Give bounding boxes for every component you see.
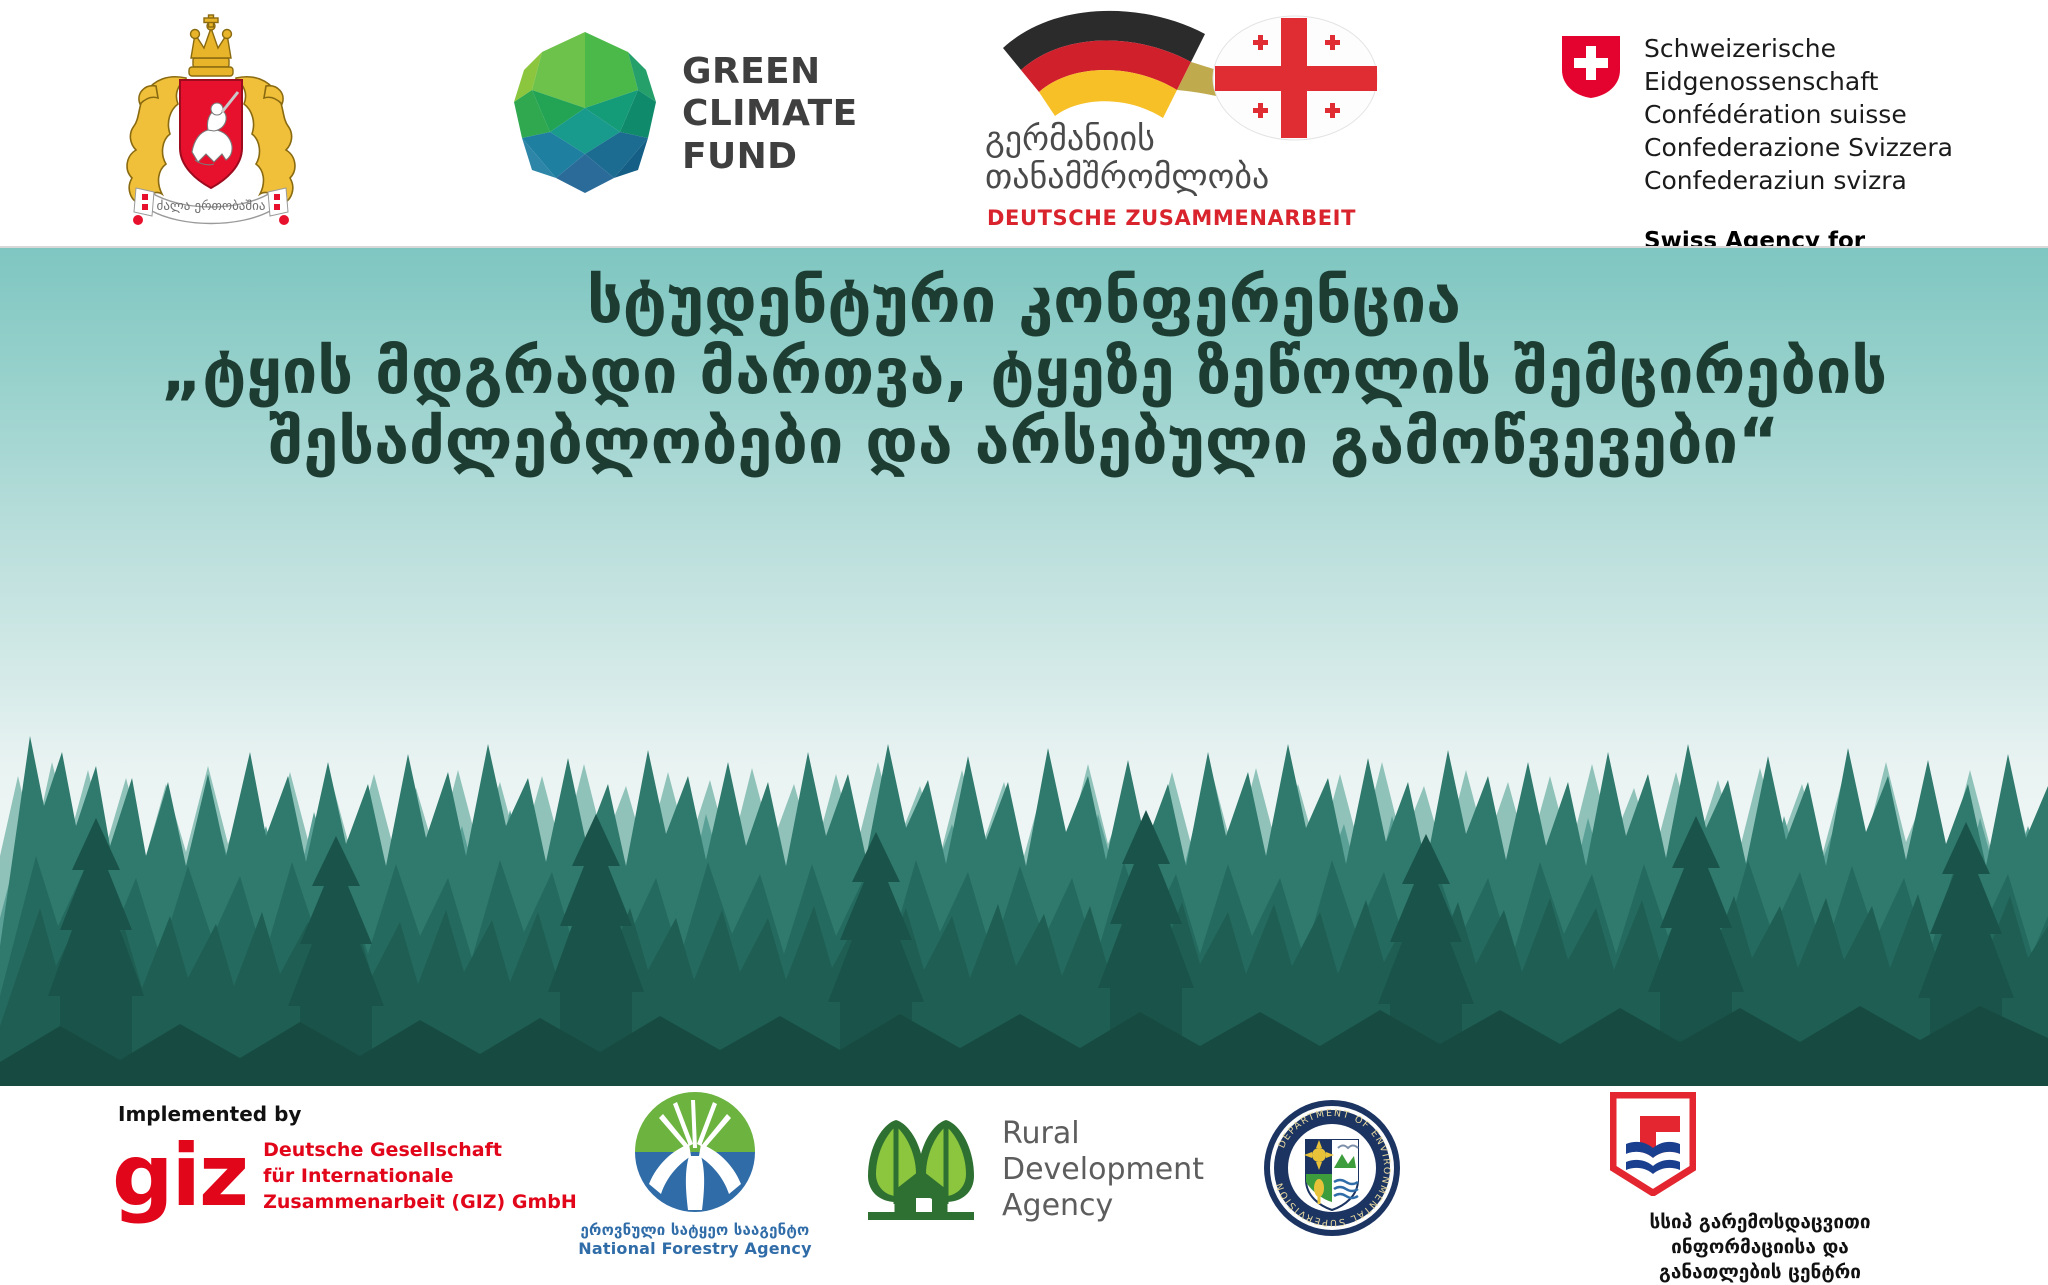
title-line-2: „ტყის მდგრადი მართვა, ტყეზე ზეწოლის შემც… xyxy=(0,337,2048,408)
deutsche-zusammenarbeit-label: DEUTSCHE ZUSAMMENARBEIT xyxy=(987,206,1356,230)
german-geo-line-1: გერმანიის xyxy=(985,120,1315,158)
gcf-line-2: CLIMATE xyxy=(682,93,858,135)
nfa-english-name: National Forestry Agency xyxy=(545,1239,845,1258)
giz-wordmark: giz xyxy=(112,1143,247,1210)
rda-line-3: Agency xyxy=(1002,1188,1204,1224)
title-line-3: შესაძლებლობები და არსებული გამოწვევები“ xyxy=(0,407,2048,478)
ceic-name: სსიპ გარემოსდაცვითი ინფორმაციისა და განა… xyxy=(1610,1210,1910,1285)
ceic-line-3: განათლების ცენტრი xyxy=(1610,1260,1910,1285)
gcf-gem-icon xyxy=(510,30,660,199)
giz-full-name: Deutsche Gesellschaft für Internationale… xyxy=(263,1138,577,1215)
gcf-line-3: FUND xyxy=(682,136,858,178)
coat-of-arms-motto: ძალა ერთობაშია xyxy=(157,199,266,214)
german-geo-line-2: თანამშრომლობა xyxy=(985,158,1315,196)
nfa-georgian-name: ეროვნული სატყეო სააგენტო xyxy=(545,1221,845,1239)
swiss-confederation-names: Schweizerische Eidgenossenschaft Confédé… xyxy=(1644,32,2000,197)
gcf-wordmark: GREEN CLIMATE FUND xyxy=(682,51,858,178)
gcf-line-1: GREEN xyxy=(682,51,858,93)
rda-wordmark: Rural Development Agency xyxy=(1002,1116,1204,1224)
page-title: სტუდენტური კონფერენცია „ტყის მდგრადი მარ… xyxy=(0,248,2048,478)
giz-name-line-2: für Internationale xyxy=(263,1164,577,1190)
swiss-name-fr: Confédération suisse xyxy=(1644,98,2000,131)
tree-circle-icon xyxy=(545,1090,845,1218)
swiss-name-de: Schweizerische Eidgenossenschaft xyxy=(1644,32,2000,98)
hero-banner: სტუდენტური კონფერენცია „ტყის მდგრადი მარ… xyxy=(0,248,2048,1086)
donor-logo-bar: ძალა ერთობაშია xyxy=(0,0,2048,247)
conference-poster: ძალა ერთობაშია xyxy=(0,0,2048,1271)
environmental-supervision-seal-icon: DEPARTMENT OF ENVIRONMENTAL SUPERVISION xyxy=(1262,1098,1402,1238)
giz-name-line-3: Zusammenarbeit (GIZ) GmbH xyxy=(263,1190,577,1216)
swiss-name-rm: Confederaziun svizra xyxy=(1644,164,2000,197)
german-cooperation-georgian-name: გერმანიის თანამშრომლობა xyxy=(985,120,1315,196)
environmental-info-center-logo: სსიპ გარემოსდაცვითი ინფორმაციისა და განა… xyxy=(1610,1092,1910,1285)
ceic-line-1: სსიპ გარემოსდაცვითი xyxy=(1610,1210,1910,1235)
german-cooperation-logo: გერმანიის თანამშრომლობა DEUTSCHE ZUSAMME… xyxy=(975,8,1395,233)
national-forestry-agency-logo: ეროვნული სატყეო სააგენტო National Forest… xyxy=(545,1090,845,1258)
giz-logo: giz Deutsche Gesellschaft für Internatio… xyxy=(112,1138,577,1215)
swiss-shield-icon xyxy=(1560,32,1622,104)
partner-logo-footer: Implemented by giz Deutsche Gesellschaft… xyxy=(0,1086,2048,1271)
forest-silhouette-illustration xyxy=(0,526,2048,1086)
giz-name-line-1: Deutsche Gesellschaft xyxy=(263,1138,577,1164)
georgia-coat-of-arms-icon: ძალა ერთობაშია xyxy=(96,14,326,229)
book-shield-icon xyxy=(1610,1092,1910,1200)
ceic-line-2: ინფორმაციისა და xyxy=(1610,1235,1910,1260)
rda-line-2: Development xyxy=(1002,1152,1204,1188)
two-trees-house-icon xyxy=(862,1114,980,1226)
rda-line-1: Rural xyxy=(1002,1116,1204,1152)
green-climate-fund-logo: GREEN CLIMATE FUND xyxy=(510,30,858,199)
swiss-name-it: Confederazione Svizzera xyxy=(1644,131,2000,164)
title-line-1: სტუდენტური კონფერენცია xyxy=(0,266,2048,337)
rural-development-agency-logo: Rural Development Agency xyxy=(862,1114,1204,1226)
implemented-by-label: Implemented by xyxy=(118,1102,301,1126)
